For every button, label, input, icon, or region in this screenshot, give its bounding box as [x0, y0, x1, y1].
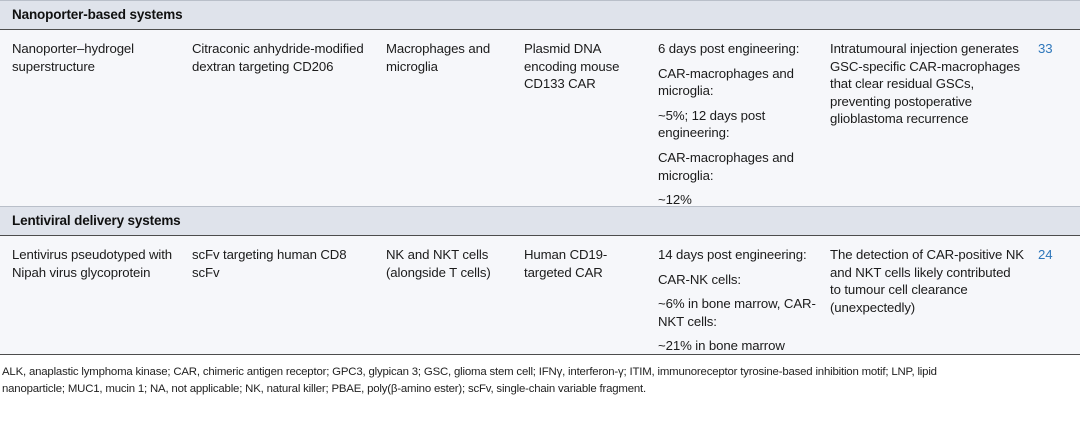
efficiency-line: ~12%: [658, 191, 816, 209]
cell-cargo: Plasmid DNA encoding mouse CD133 CAR: [524, 40, 658, 93]
table-row: Nanoporter–hydrogel superstructure Citra…: [0, 30, 1080, 206]
cell-cargo: Human CD19-targeted CAR: [524, 246, 658, 281]
comparison-table: Nanoporter-based systems Nanoporter–hydr…: [0, 0, 1080, 397]
cell-targeting-moiety: Citraconic anhydride-modified dextran ta…: [192, 40, 386, 75]
cell-cells-engineered: Macrophages and microglia: [386, 40, 524, 75]
efficiency-line: 14 days post engineering:: [658, 246, 816, 264]
cell-reference[interactable]: 33: [1038, 40, 1080, 58]
efficiency-line: CAR-NK cells:: [658, 271, 816, 289]
cell-reference[interactable]: 24: [1038, 246, 1080, 264]
cell-outcome: The detection of CAR-positive NK and NKT…: [830, 246, 1038, 316]
efficiency-line: ~6% in bone marrow, CAR-NKT cells:: [658, 295, 816, 330]
cell-efficiency: 6 days post engineering: CAR-macrophages…: [658, 40, 830, 209]
table-row: Lentivirus pseudotyped with Nipah virus …: [0, 236, 1080, 354]
cell-platform: Lentivirus pseudotyped with Nipah virus …: [0, 246, 192, 281]
footnote-line-1: ALK, anaplastic lymphoma kinase; CAR, ch…: [2, 366, 937, 378]
efficiency-line: CAR-macrophages and microglia:: [658, 149, 816, 184]
section-header-title: Nanoporter-based systems: [12, 6, 1080, 23]
cell-targeting-moiety: scFv targeting human CD8 scFv: [192, 246, 386, 281]
section-header-lentiviral: Lentiviral delivery systems: [0, 206, 1080, 236]
efficiency-line: CAR-macrophages and microglia:: [658, 65, 816, 100]
efficiency-line: ~5%; 12 days post engineering:: [658, 107, 816, 142]
cell-outcome: Intratumoural injection generates GSC-sp…: [830, 40, 1038, 128]
section-header-nanoporter: Nanoporter-based systems: [0, 0, 1080, 30]
cell-cells-engineered: NK and NKT cells (alongside T cells): [386, 246, 524, 281]
cell-platform: Nanoporter–hydrogel superstructure: [0, 40, 192, 75]
table-footnote: ALK, anaplastic lymphoma kinase; CAR, ch…: [0, 355, 1080, 397]
footnote-line-2: nanoparticle; MUC1, mucin 1; NA, not app…: [2, 381, 1080, 398]
efficiency-line: 6 days post engineering:: [658, 40, 816, 58]
section-header-title: Lentiviral delivery systems: [12, 212, 1080, 229]
efficiency-line: ~21% in bone marrow: [658, 337, 816, 355]
cell-efficiency: 14 days post engineering: CAR-NK cells: …: [658, 246, 830, 355]
